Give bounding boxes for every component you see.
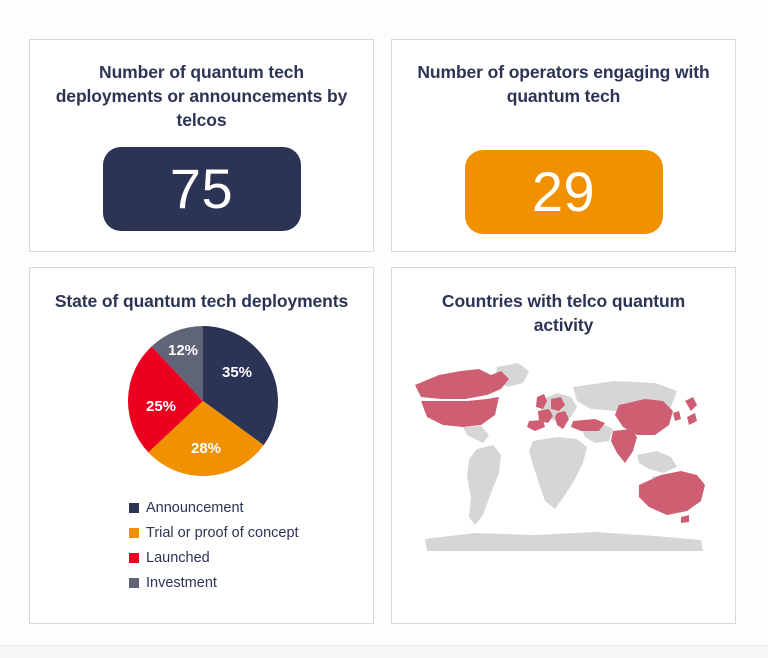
map-title: Countries with telco quantum activity [392,268,735,337]
legend-item-launched[interactable]: Launched [129,545,373,570]
pie-chart-card: State of quantum tech deployments 35% 28… [29,267,374,624]
map-country-japan-south [687,413,697,425]
pie-label-launched: 25% [145,398,175,415]
legend-swatch-announcement [129,503,139,513]
legend-label-launched: Launched [146,550,210,566]
map-country-australia [639,471,705,515]
legend-item-investment[interactable]: Investment [129,570,373,595]
world-map-svg [405,339,725,571]
map-country-turkey [571,419,605,431]
map-country-spain [527,420,545,431]
kpi-value-operators: 29 [532,164,595,220]
map-country-india [611,429,637,463]
map-country-canada [415,369,509,399]
kpi-card-operators: Number of operators engaging with quantu… [391,39,736,252]
map-card: Countries with telco quantum activity [391,267,736,624]
map-country-japan [685,397,697,411]
pie-chart-svg: 35% 28% 25% 12% [108,321,298,481]
legend-swatch-launched [129,553,139,563]
world-map-area [392,339,737,589]
kpi-badge-operators: 29 [465,150,663,234]
dashboard: Number of quantum tech deployments or an… [0,0,768,645]
kpi-badge-wrap: 29 [392,150,735,234]
map-country-united-states [421,397,499,427]
legend-label-announcement: Announcement [146,500,244,516]
legend-swatch-investment [129,578,139,588]
kpi-badge-deployments: 75 [103,147,301,231]
pie-chart-legend: Announcement Trial or proof of concept L… [30,495,373,595]
kpi-card-deployments: Number of quantum tech deployments or an… [29,39,374,252]
map-country-china [615,399,673,435]
kpi-value-deployments: 75 [170,161,233,217]
kpi-card-deployments-title: Number of quantum tech deployments or an… [30,40,373,132]
map-country-south-korea [673,411,681,421]
page-bottom-strip [0,645,768,658]
pie-label-trial: 28% [190,440,220,457]
kpi-badge-wrap: 75 [30,147,373,231]
legend-item-announcement[interactable]: Announcement [129,495,373,520]
legend-label-trial: Trial or proof of concept [146,525,299,541]
legend-item-trial[interactable]: Trial or proof of concept [129,520,373,545]
map-country-tasmania [681,515,689,523]
legend-label-investment: Investment [146,575,217,591]
pie-chart-title: State of quantum tech deployments [30,268,373,313]
pie-chart-area: 35% 28% 25% 12% [30,321,375,481]
legend-swatch-trial [129,528,139,538]
pie-label-announcement: 35% [221,364,251,381]
kpi-card-operators-title: Number of operators engaging with quantu… [392,40,735,108]
pie-label-investment: 12% [167,342,197,359]
